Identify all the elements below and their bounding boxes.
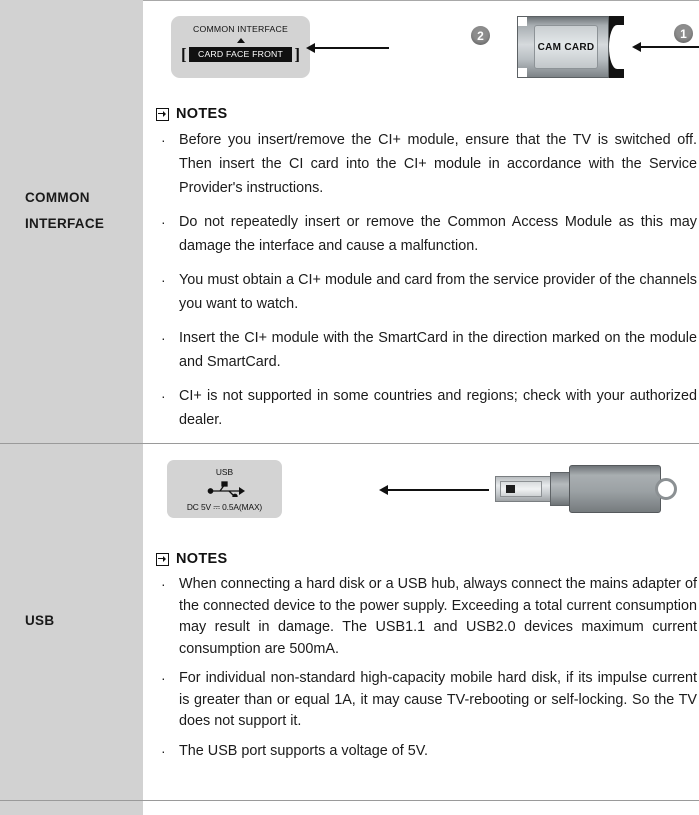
bracket-right: ] [294,46,300,63]
label-column: COMMON INTERFACE USB [0,0,143,815]
arrow-left-icon [315,47,389,49]
list-item-text: When connecting a hard disk or a USB hub… [179,574,697,660]
cam-card-label: CAM CARD [538,42,595,53]
usb-trident-svg [167,481,282,497]
bullet-marker: · [161,574,166,596]
usb-port-title: USB [167,467,282,477]
bullet-marker: · [161,741,166,763]
usb-connector [495,476,553,502]
list-item: · You must obtain a CI+ module and card … [156,268,697,316]
step-badge-2: 2 [471,26,490,45]
list-item: · CI+ is not supported in some countries… [156,384,697,432]
cam-inner-panel: CAM CARD [534,25,598,69]
ci-card-face-row: [ CARD FACE FRONT ] [181,45,300,64]
usb-body [569,465,661,513]
arrow-in-box-icon [156,108,169,121]
usb-keyring-loop [655,478,677,500]
usb-trident-icon [167,481,282,497]
bullet-marker: · [161,668,166,690]
usb-flash-drive-icon [495,465,680,513]
list-item-text: Do not repeatedly insert or remove the C… [179,210,697,258]
list-item: · Before you insert/remove the CI+ modul… [156,128,697,200]
connection-guide-page: COMMON INTERFACE USB COMMON INTERFACE [ … [0,0,699,815]
cam-corner [518,17,527,26]
row-label-common-interface: COMMON INTERFACE [0,185,143,237]
row-label-line: COMMON [25,185,143,211]
bullet-marker: · [161,268,166,292]
list-item-text: For individual non-standard high-capacit… [179,668,697,733]
list-item: · Do not repeatedly insert or remove the… [156,210,697,258]
usb-port-illustration: USB DC 5V ⎓ 0.5A(MAX) [167,460,282,518]
notes-list-ci: · Before you insert/remove the CI+ modul… [156,128,697,442]
section-divider [0,443,699,444]
list-item-text: Insert the CI+ module with the SmartCard… [179,326,697,374]
list-item: · For individual non-standard high-capac… [156,668,697,733]
bullet-marker: · [161,384,166,408]
list-item: · The USB port supports a voltage of 5V. [156,741,697,763]
usb-power-spec: DC 5V ⎓ 0.5A(MAX) [167,502,282,513]
list-item: · When connecting a hard disk or a USB h… [156,574,697,660]
list-item-text: You must obtain a CI+ module and card fr… [179,268,697,316]
cam-notch [609,25,625,69]
usb-connector-inner [500,481,542,497]
notes-label: NOTES [176,106,227,122]
list-item-text: The USB port supports a voltage of 5V. [179,741,697,763]
step-badge-1: 1 [674,24,693,43]
ci-slot-title: COMMON INTERFACE [171,24,310,34]
usb-diagram: USB DC 5V ⎓ 0.5A(MAX) [143,443,699,543]
bullet-marker: · [161,326,166,350]
arrow-left-icon [388,489,489,491]
cam-body: CAM CARD [517,16,609,78]
notes-label: NOTES [176,551,227,567]
row-label-line: INTERFACE [25,211,143,237]
common-interface-diagram: COMMON INTERFACE [ CARD FACE FRONT ] 2 [143,0,699,100]
bullet-marker: · [161,128,166,152]
list-item-text: Before you insert/remove the CI+ module,… [179,128,697,200]
arrow-in-box-icon [156,553,169,566]
notes-list-usb: · When connecting a hard disk or a USB h… [156,574,697,770]
bottom-divider [0,800,699,801]
triangle-up-icon [237,38,245,43]
content-column: COMMON INTERFACE [ CARD FACE FRONT ] 2 [143,0,699,815]
usb-contact-pad [506,489,515,493]
bracket-left: [ [181,46,187,63]
ci-slot-illustration: COMMON INTERFACE [ CARD FACE FRONT ] [171,16,310,78]
arrow-left-icon [641,46,699,48]
cam-module-illustration: CAM CARD [517,16,624,78]
notes-heading-usb: NOTES [156,551,227,567]
ci-card-face-label: CARD FACE FRONT [189,47,293,63]
notes-heading-ci: NOTES [156,106,227,122]
cam-corner [518,68,527,77]
row-label-usb: USB [0,608,143,634]
usb-collar [550,472,570,506]
list-item-text: CI+ is not supported in some countries a… [179,384,697,432]
bullet-marker: · [161,210,166,234]
list-item: · Insert the CI+ module with the SmartCa… [156,326,697,374]
row-label-line: USB [25,608,143,634]
